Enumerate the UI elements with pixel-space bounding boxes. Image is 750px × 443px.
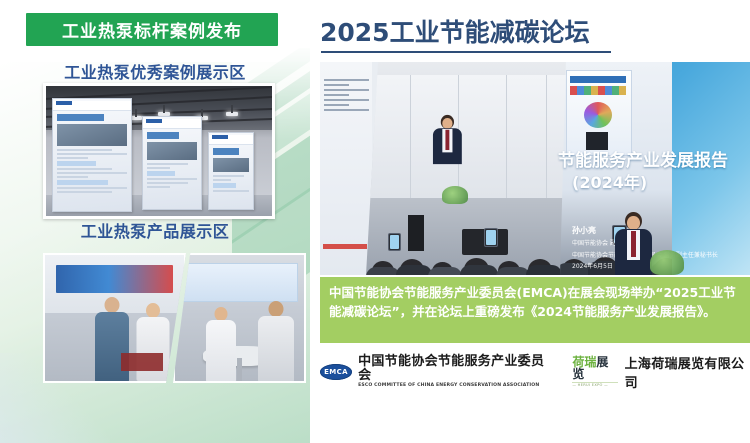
poster-board-2: [142, 116, 202, 210]
photo-handshake: [43, 253, 186, 383]
photo-products-pair: [43, 253, 306, 383]
hero-slice-audience: [560, 62, 678, 275]
footer-logos: EMCA 中国节能协会节能服务产业委员会 ESCO COMMITTEE OF C…: [320, 355, 750, 389]
hero-slice-slide: [672, 62, 750, 275]
herui-mark-sub: — HERUI EXPO —: [572, 382, 617, 388]
stage-speaker: [431, 115, 464, 164]
green-banner-label: 工业热泵标杆案例发布: [62, 17, 242, 42]
hero-slice-stage: [366, 62, 566, 275]
herui-logo: 荷瑞展览 — HERUI EXPO — 上海荷瑞展览有限公司: [572, 353, 750, 391]
herui-mark-icon: 荷瑞展览 — HERUI EXPO —: [572, 356, 617, 388]
hero-slice-poster: [320, 62, 372, 275]
caption-text: 中国节能协会节能服务产业委员会(EMCA)在展会现场举办“2025工业节能减碳论…: [329, 283, 742, 321]
poster-board-3: [208, 132, 254, 210]
emca-logo: EMCA 中国节能协会节能服务产业委员会 ESCO COMMITTEE OF C…: [320, 355, 546, 389]
emca-name-en: ESCO COMMITTEE OF CHINA ENERGY CONSERVAT…: [358, 384, 546, 389]
left-panel: 工业热泵标杆案例发布 工业热泵优秀案例展示区: [0, 0, 310, 443]
caption-box: 中国节能协会节能服务产业委员会(EMCA)在展会现场举办“2025工业节能减碳论…: [320, 277, 750, 343]
photo-meeting: [173, 253, 306, 383]
slide-page: 工业热泵标杆案例发布 工业热泵优秀案例展示区: [0, 0, 750, 443]
emca-name-cn: 中国节能协会节能服务产业委员会: [358, 355, 546, 382]
page-title: 2025工业节能减碳论坛: [320, 13, 590, 49]
person-left: [203, 307, 239, 381]
right-panel: 2025工业节能减碳论坛: [310, 0, 750, 443]
poster-board-1: [52, 98, 132, 212]
section-heading-cases: 工业热泵优秀案例展示区: [0, 59, 310, 83]
green-banner: 工业热泵标杆案例发布: [26, 13, 278, 46]
section-heading-products: 工业热泵产品展示区: [0, 218, 310, 242]
photo-cases-exhibit: [43, 83, 275, 219]
expo-scene: [46, 86, 272, 216]
herui-company-name: 上海荷瑞展览有限公司: [625, 353, 750, 391]
person-right: [255, 301, 297, 381]
emca-mark-text: EMCA: [324, 368, 348, 376]
title-underline: [321, 51, 611, 53]
emca-badge-icon: EMCA: [320, 364, 352, 380]
hero-photo-composite: 节能服务产业发展报告 (2024年) 孙小亮 中国节能协会 副秘书长 中国节能协…: [320, 62, 750, 275]
